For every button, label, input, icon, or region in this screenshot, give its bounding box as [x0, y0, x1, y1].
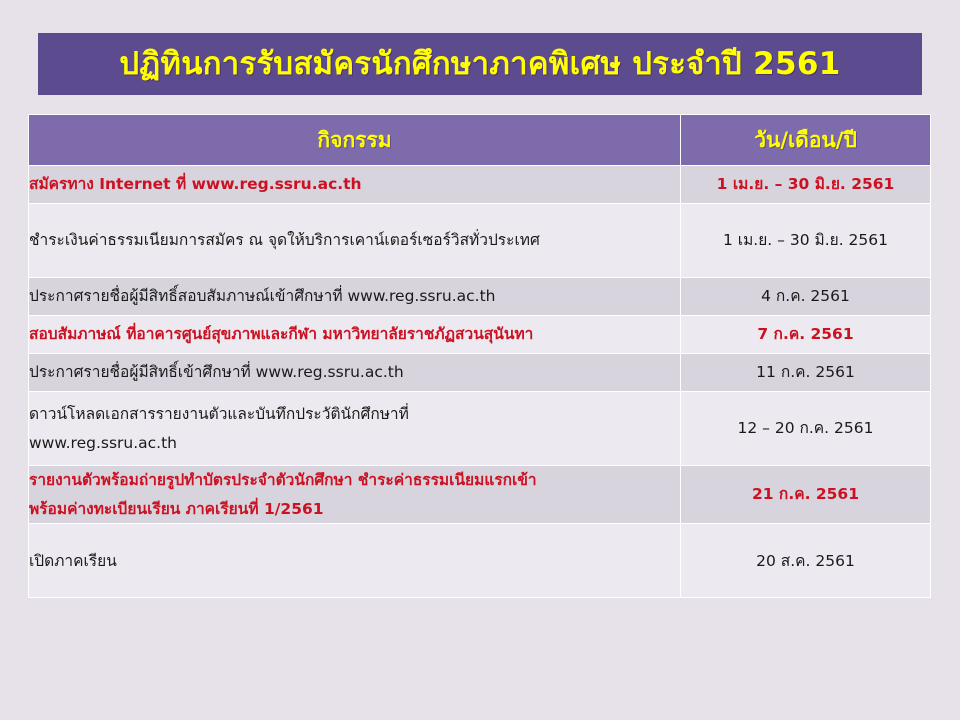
cell-date: 7 ก.ค. 2561: [681, 316, 931, 354]
activity-line: www.reg.ssru.ac.th: [29, 429, 680, 458]
table-row: สมัครทาง Internet ที่ www.reg.ssru.ac.th…: [29, 166, 931, 204]
page-title: ปฏิทินการรับสมัครนักศึกษาภาคพิเศษ ประจำป…: [119, 47, 840, 81]
column-header-date: วัน/เดือน/ปี: [681, 115, 931, 166]
cell-activity: ประกาศรายชื่อผู้มีสิทธิ์เข้าศึกษาที่ www…: [29, 354, 681, 392]
table-header-row: กิจกรรม วัน/เดือน/ปี: [29, 115, 931, 166]
cell-date: 1 เม.ย. – 30 มิ.ย. 2561: [681, 166, 931, 204]
activity-line: สมัครทาง Internet ที่ www.reg.ssru.ac.th: [29, 170, 680, 199]
title-banner: ปฏิทินการรับสมัครนักศึกษาภาคพิเศษ ประจำป…: [38, 33, 922, 95]
table-header: กิจกรรม วัน/เดือน/ปี: [29, 115, 931, 166]
cell-date: 20 ส.ค. 2561: [681, 524, 931, 598]
cell-activity: เปิดภาคเรียน: [29, 524, 681, 598]
activity-line: เปิดภาคเรียน: [29, 547, 680, 576]
cell-activity: ชำระเงินค่าธรรมเนียมการสมัคร ณ จุดให้บริ…: [29, 204, 681, 278]
table-row: สอบสัมภาษณ์ ที่อาคารศูนย์สุขภาพและกีฬา ม…: [29, 316, 931, 354]
cell-activity: รายงานตัวพร้อมถ่ายรูปทำบัตรประจำตัวนักศึ…: [29, 466, 681, 524]
table-row: ชำระเงินค่าธรรมเนียมการสมัคร ณ จุดให้บริ…: [29, 204, 931, 278]
table-body: สมัครทาง Internet ที่ www.reg.ssru.ac.th…: [29, 166, 931, 598]
cell-activity: สมัครทาง Internet ที่ www.reg.ssru.ac.th: [29, 166, 681, 204]
cell-activity: ดาวน์โหลดเอกสารรายงานตัวและบันทึกประวัติ…: [29, 392, 681, 466]
cell-date: 4 ก.ค. 2561: [681, 278, 931, 316]
table-row: เปิดภาคเรียน20 ส.ค. 2561: [29, 524, 931, 598]
activity-line: รายงานตัวพร้อมถ่ายรูปทำบัตรประจำตัวนักศึ…: [29, 466, 680, 495]
slide-canvas: ปฏิทินการรับสมัครนักศึกษาภาคพิเศษ ประจำป…: [0, 0, 960, 720]
activity-line: ประกาศรายชื่อผู้มีสิทธิ์เข้าศึกษาที่ www…: [29, 358, 680, 387]
activity-line: ดาวน์โหลดเอกสารรายงานตัวและบันทึกประวัติ…: [29, 400, 680, 429]
table-row: ดาวน์โหลดเอกสารรายงานตัวและบันทึกประวัติ…: [29, 392, 931, 466]
cell-activity: สอบสัมภาษณ์ ที่อาคารศูนย์สุขภาพและกีฬา ม…: [29, 316, 681, 354]
column-header-activity: กิจกรรม: [29, 115, 681, 166]
table-row: ประกาศรายชื่อผู้มีสิทธิ์เข้าศึกษาที่ www…: [29, 354, 931, 392]
activity-line: ชำระเงินค่าธรรมเนียมการสมัคร ณ จุดให้บริ…: [29, 226, 680, 255]
activity-line: พร้อมค่างทะเบียนเรียน ภาคเรียนที่ 1/2561: [29, 495, 680, 524]
cell-activity: ประกาศรายชื่อผู้มีสิทธิ์สอบสัมภาษณ์เข้าศ…: [29, 278, 681, 316]
cell-date: 21 ก.ค. 2561: [681, 466, 931, 524]
table-row: ประกาศรายชื่อผู้มีสิทธิ์สอบสัมภาษณ์เข้าศ…: [29, 278, 931, 316]
cell-date: 12 – 20 ก.ค. 2561: [681, 392, 931, 466]
admission-calendar-table: กิจกรรม วัน/เดือน/ปี สมัครทาง Internet ท…: [28, 114, 931, 598]
activity-line: สอบสัมภาษณ์ ที่อาคารศูนย์สุขภาพและกีฬา ม…: [29, 320, 680, 349]
activity-line: ประกาศรายชื่อผู้มีสิทธิ์สอบสัมภาษณ์เข้าศ…: [29, 282, 680, 311]
table-row: รายงานตัวพร้อมถ่ายรูปทำบัตรประจำตัวนักศึ…: [29, 466, 931, 524]
cell-date: 11 ก.ค. 2561: [681, 354, 931, 392]
cell-date: 1 เม.ย. – 30 มิ.ย. 2561: [681, 204, 931, 278]
